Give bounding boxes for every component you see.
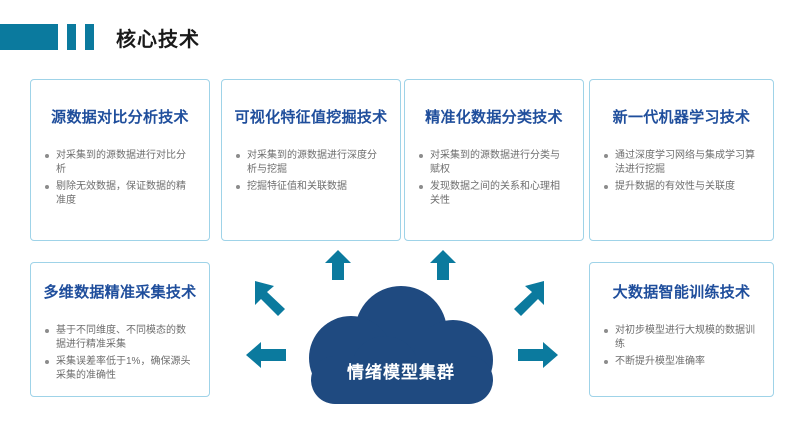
header-accent-bar-small-2 — [85, 24, 94, 50]
card-title: 可视化特征值挖掘技术 — [222, 106, 400, 127]
card-bullet-list: 基于不同维度、不同模态的数据进行精准采集 采集误差率低于1%，确保源头采集的准确… — [45, 324, 195, 383]
page-title: 核心技术 — [116, 23, 200, 52]
list-item: 采集误差率低于1%，确保源头采集的准确性 — [45, 355, 195, 383]
list-item: 发现数据之间的关系和心理相关性 — [419, 180, 569, 208]
card-title: 源数据对比分析技术 — [31, 106, 209, 127]
tech-card-next-gen-machine-learning[interactable]: 新一代机器学习技术 通过深度学习网络与集成学习算法进行挖掘 提升数据的有效性与关… — [589, 79, 774, 241]
list-item: 基于不同维度、不同模态的数据进行精准采集 — [45, 324, 195, 352]
list-item: 通过深度学习网络与集成学习算法进行挖掘 — [604, 149, 759, 177]
list-item: 对初步模型进行大规模的数据训练 — [604, 324, 759, 352]
list-item: 对采集到的源数据进行分类与赋权 — [419, 149, 569, 177]
arrow-up-right-icon — [430, 250, 456, 280]
tech-card-multidimensional-collection[interactable]: 多维数据精准采集技术 基于不同维度、不同模态的数据进行精准采集 采集误差率低于1… — [30, 262, 210, 397]
list-item: 提升数据的有效性与关联度 — [604, 180, 759, 194]
card-bullet-list: 通过深度学习网络与集成学习算法进行挖掘 提升数据的有效性与关联度 — [604, 149, 759, 194]
list-item: 对采集到的源数据进行对比分析 — [45, 149, 195, 177]
list-item: 挖掘特征值和关联数据 — [236, 180, 386, 194]
list-item: 不断提升模型准确率 — [604, 355, 759, 369]
arrow-up-left-diagonal-icon — [252, 277, 294, 319]
card-title: 多维数据精准采集技术 — [31, 281, 209, 302]
card-bullet-list: 对采集到的源数据进行深度分析与挖掘 挖掘特征值和关联数据 — [236, 149, 386, 194]
header-accent-bar-large — [0, 24, 58, 50]
card-bullet-list: 对采集到的源数据进行分类与赋权 发现数据之间的关系和心理相关性 — [419, 149, 569, 208]
arrow-right-icon — [518, 342, 558, 368]
header-accent-bar-small-1 — [67, 24, 76, 50]
tech-card-source-data-comparison[interactable]: 源数据对比分析技术 对采集到的源数据进行对比分析 剔除无效数据，保证数据的精准度 — [30, 79, 210, 241]
tech-card-bigdata-intelligent-training[interactable]: 大数据智能训练技术 对初步模型进行大规模的数据训练 不断提升模型准确率 — [589, 262, 774, 397]
card-bullet-list: 对初步模型进行大规模的数据训练 不断提升模型准确率 — [604, 324, 759, 369]
arrow-up-left-icon — [325, 250, 351, 280]
list-item: 剔除无效数据，保证数据的精准度 — [45, 180, 195, 208]
list-item: 对采集到的源数据进行深度分析与挖掘 — [236, 149, 386, 177]
cloud-shape: 情绪模型集群 — [289, 286, 513, 404]
tech-card-precise-classification[interactable]: 精准化数据分类技术 对采集到的源数据进行分类与赋权 发现数据之间的关系和心理相关… — [404, 79, 584, 241]
card-title: 精准化数据分类技术 — [405, 106, 583, 127]
arrow-left-icon — [246, 342, 286, 368]
card-title: 大数据智能训练技术 — [590, 281, 773, 302]
page-header: 核心技术 — [0, 24, 200, 50]
card-title: 新一代机器学习技术 — [590, 106, 773, 127]
tech-card-visual-feature-mining[interactable]: 可视化特征值挖掘技术 对采集到的源数据进行深度分析与挖掘 挖掘特征值和关联数据 — [221, 79, 401, 241]
card-bullet-list: 对采集到的源数据进行对比分析 剔除无效数据，保证数据的精准度 — [45, 149, 195, 208]
